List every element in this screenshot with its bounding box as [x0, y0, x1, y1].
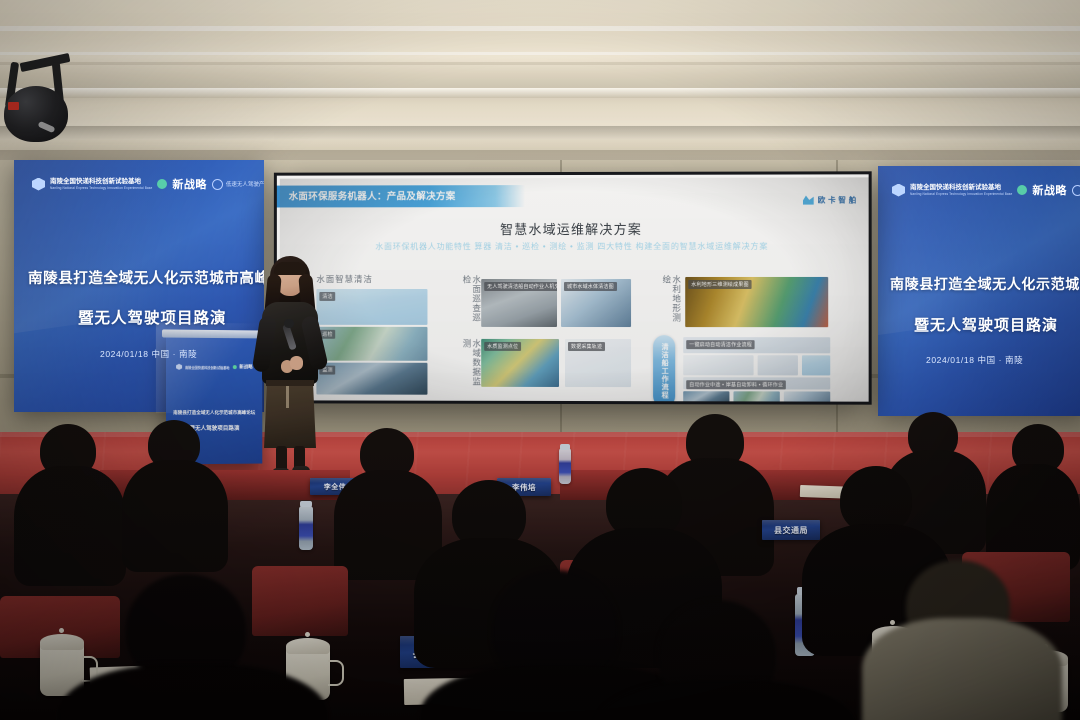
- nameplate-4-label: 县交通局: [774, 525, 808, 536]
- slide-thumb-patrol-1: 无人驾驶清洁船自动作业人机交互: [481, 279, 557, 327]
- tea-mug-knob: [59, 628, 64, 633]
- strategy-dot-icon: [1017, 185, 1027, 195]
- slide-section-label-4: 水利地形测绘: [661, 275, 681, 331]
- banner-right-title-line2: 暨无人驾驶项目路演: [914, 314, 1058, 335]
- banner-right-logo-main: 南陵全国快递科技创新试验基地: [910, 184, 1012, 191]
- banner-right-date: 2024/01/18 中国 · 南陵: [926, 354, 1023, 366]
- banner-left-third-logo: 低速无人驾驶产业联盟: [226, 180, 264, 188]
- nameplate-4: 县交通局: [762, 520, 820, 540]
- slide-thumb-clean-3: 监测: [316, 363, 427, 395]
- tea-mug-knob: [890, 620, 895, 625]
- presentation-slide: 水面环保服务机器人：产品及解决方案 欧 卡 智 舶 智慧水域运维解决方案 水面环…: [277, 174, 869, 401]
- thumb-caption: 一键启动自动清洁作业流程: [686, 340, 755, 349]
- slide-thumb-monitor-1: 水质监测点位: [481, 339, 559, 387]
- base-emblem-icon: [892, 184, 905, 197]
- slide-thumb-clean-1: 清洁: [316, 289, 427, 325]
- banner-left-title-line1: 南陵县打造全域无人化示范城市高峰论坛: [28, 267, 264, 288]
- slide-workflow-row-2: 自动作业中途 • 岸基自动卸料 • 循环作业: [683, 377, 830, 389]
- slide-thumb-survey-1: 水利地形三维测绘成果图: [685, 277, 828, 327]
- banner-left-strategy-logo: 新战略: [172, 176, 207, 192]
- slide-thumb-patrol-2: 城市水域水体清洁图: [561, 279, 631, 327]
- thumb-caption: 自动作业中途 • 岸基自动卸料 • 循环作业: [686, 380, 786, 389]
- banner-right-logo-sub: Nanling National Express Technology Inno…: [910, 192, 1012, 196]
- ceiling-molding-4: [0, 126, 1080, 140]
- banner-left-logo-main: 南陵全国快递科技创新试验基地: [50, 178, 152, 185]
- thumb-caption: 城市水域水体清洁图: [564, 282, 617, 291]
- stage-spotlight-icon: [2, 58, 74, 150]
- tea-mug-knob: [305, 632, 310, 637]
- water-bottle: [299, 506, 313, 550]
- slide-workflow-cell-3: [802, 355, 830, 375]
- slide-workflow-tag-label: 清洁船工作流程: [659, 343, 669, 399]
- slide-logo-text: 欧 卡 智 舶: [818, 194, 857, 205]
- banner-right-title-line1: 南陵县打造全域无人化示范城市高: [890, 274, 1080, 294]
- thumb-caption: 水利地形三维测绘成果图: [688, 280, 752, 289]
- slide-section-label-3: 水域数据监测: [461, 339, 480, 395]
- slide-workflow-tag: 清洁船工作流程: [653, 335, 675, 402]
- strategy-dot-icon: [157, 179, 167, 189]
- slide-workflow-cell-5: [733, 391, 779, 401]
- slide-thumb-monitor-2: 数据采集轨迹: [565, 339, 631, 387]
- conference-photo-scene: 南陵全国快递科技创新试验基地 Nanling National Express …: [0, 0, 1080, 720]
- microphone-head-icon: [284, 319, 294, 328]
- ceiling-molding-3: [0, 88, 1080, 98]
- thumb-caption: 数据采集轨迹: [568, 342, 605, 351]
- slide-brand-logo: 欧 卡 智 舶: [803, 194, 857, 205]
- chair: [252, 566, 348, 636]
- bottle-cap: [560, 444, 570, 450]
- banner-left-logo-sub: Nanling National Express Technology Inno…: [50, 186, 152, 190]
- slide-workflow-cell-4: [683, 391, 729, 401]
- presenter-speaker: [246, 256, 332, 490]
- thumb-caption: 水质监测点位: [484, 342, 521, 351]
- alliance-mark-icon: [1072, 185, 1080, 196]
- wave-logo-icon: [803, 196, 814, 205]
- ceiling-molding-2: [0, 52, 1080, 55]
- backdrop-banner-right: 南陵全国快递科技创新试验基地 Nanling National Express …: [878, 166, 1080, 416]
- alliance-mark-icon: [212, 179, 223, 190]
- base-emblem-icon: [176, 364, 182, 370]
- banner-right-strategy-logo: 新战略: [1032, 182, 1067, 198]
- tea-mug-lid: [40, 634, 84, 650]
- slide-workflow-row-1: 一键启动自动清洁作业流程: [683, 337, 830, 353]
- thumb-caption: 无人驾驶清洁船自动作业人机交互: [484, 282, 557, 291]
- slide-subtitle: 水面环保机器人功能特性 算器 清洁 • 巡检 • 测绘 • 监测 四大特性 构建…: [277, 241, 869, 252]
- slide-thumb-clean-2: 巡检: [316, 327, 427, 361]
- base-emblem-icon: [32, 178, 45, 191]
- slide-workflow-cell-6: [784, 391, 830, 401]
- ceiling-molding-1: [0, 26, 1080, 31]
- bottle-cap: [300, 501, 312, 507]
- slide-workflow-cell-2: [758, 355, 798, 375]
- water-bottle: [559, 448, 571, 484]
- ceiling: [0, 0, 1080, 168]
- slide-ribbon-label: 水面环保服务机器人：产品及解决方案: [289, 188, 456, 202]
- podium-logo-main: 南陵全国快递科技创新试验基地: [185, 364, 229, 369]
- led-screen: 水面环保服务机器人：产品及解决方案 欧 卡 智 舶 智慧水域运维解决方案 水面环…: [274, 171, 872, 404]
- strategy-dot-icon: [232, 365, 236, 369]
- banner-left-title-line2: 暨无人驾驶项目路演: [78, 306, 227, 328]
- tea-mug-lid: [286, 638, 330, 654]
- slide-section-label-2: 水面巡查巡检: [461, 275, 480, 331]
- tea-mug-handle: [328, 660, 344, 686]
- banner-left-date: 2024/01/18 中国 · 南陵: [100, 348, 197, 360]
- slide-title: 智慧水域运维解决方案: [277, 219, 869, 239]
- slide-workflow-cell-1: [683, 355, 753, 375]
